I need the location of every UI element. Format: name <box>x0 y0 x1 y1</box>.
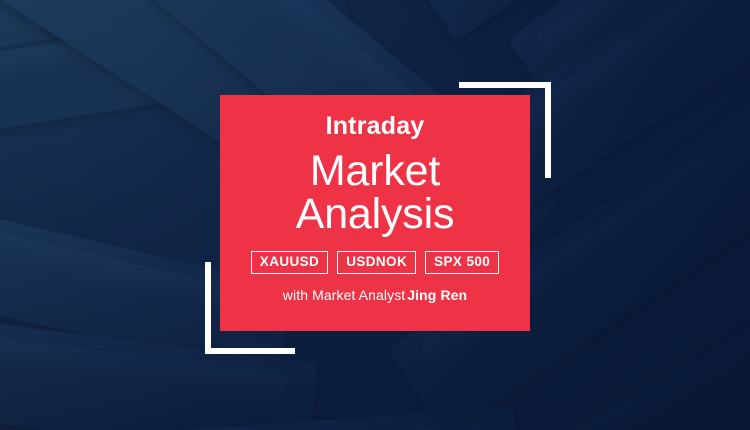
analyst-name: Jing Ren <box>407 287 467 303</box>
page-title: Market Analysis <box>296 150 455 235</box>
kicker-text: Intraday <box>326 114 425 139</box>
headline-line-2: Analysis <box>296 193 455 236</box>
instrument-tag-row: XAUUSD USDNOK SPX 500 <box>251 251 499 274</box>
instrument-tag-usdnok[interactable]: USDNOK <box>337 251 416 274</box>
byline-prefix: with Market Analyst <box>283 287 406 303</box>
byline: with Market AnalystJing Ren <box>283 287 467 303</box>
headline-line-1: Market <box>310 147 440 195</box>
red-content-card: Intraday Market Analysis XAUUSD USDNOK S… <box>220 95 530 331</box>
instrument-tag-xauusd[interactable]: XAUUSD <box>251 251 328 274</box>
instrument-tag-spx500[interactable]: SPX 500 <box>425 251 499 274</box>
market-analysis-banner: NET WT 1000 g FINE GOLD 999.9 1000 g NET… <box>0 0 750 430</box>
